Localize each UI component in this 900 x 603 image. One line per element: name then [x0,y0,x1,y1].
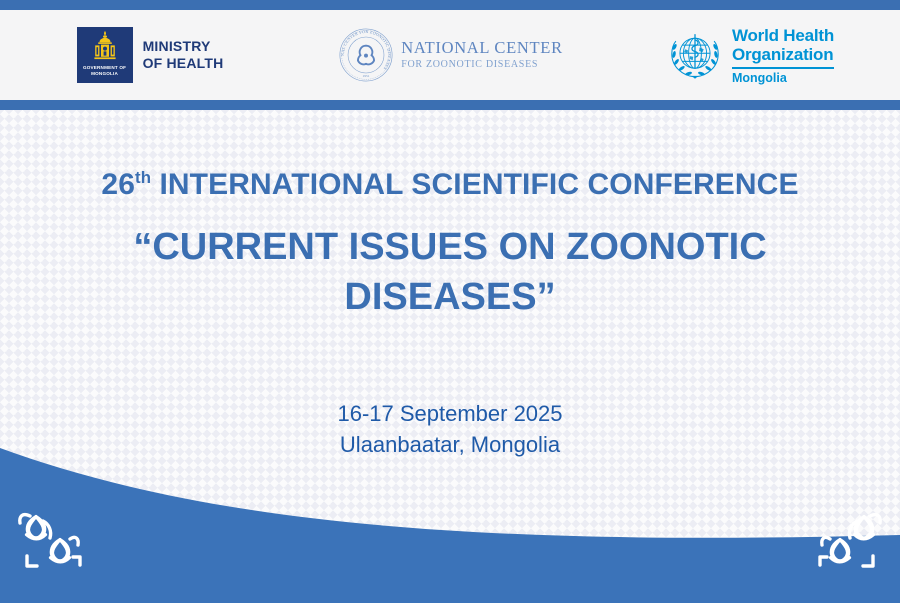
bottom-wave-decoration [0,443,900,603]
national-center-logo-slot: NATIONAL CENTER FOR ZOONOTIC DISEASES 19… [300,26,600,84]
conference-subtitle: 26th INTERNATIONAL SCIENTIFIC CONFERENCE [0,168,900,202]
conference-title-slide: GOVERNMENT OF MONGOLIA MINISTRY OF HEALT… [0,0,900,603]
logo-header: GOVERNMENT OF MONGOLIA MINISTRY OF HEALT… [0,10,900,100]
who-divider [732,67,834,69]
header-divider-bar [0,100,900,110]
who-name-line1: World Health [732,26,834,45]
conference-ordinal: th [135,168,151,187]
ministry-of-health-name: MINISTRY OF HEALTH [143,38,224,72]
zoonotic-seal-icon: NATIONAL CENTER FOR ZOONOTIC DISEASES 19… [337,26,395,84]
who-name-line2: Organization [732,45,834,64]
title-text-block: 26th INTERNATIONAL SCIENTIFIC CONFERENCE… [0,110,900,460]
crest-caption-line2: MONGOLIA [91,71,118,76]
national-center-logo: NATIONAL CENTER FOR ZOONOTIC DISEASES 19… [337,26,563,84]
wave-band-blue [0,448,900,603]
mongolian-knot-ornament-left-icon [16,509,92,575]
ministry-of-health-logo: GOVERNMENT OF MONGOLIA MINISTRY OF HEALT… [77,27,224,83]
national-center-subtitle: FOR ZOONOTIC DISEASES [401,60,563,70]
who-logo-slot: World Health Organization Mongolia [600,26,900,84]
ministry-name-line1: MINISTRY [143,38,224,55]
conference-number: 26 [101,168,135,201]
national-center-title: NATIONAL CENTER [401,40,563,57]
crest-caption-line1: GOVERNMENT OF [83,65,126,70]
ministry-name-line2: OF HEALTH [143,55,224,72]
page-title: “CURRENT ISSUES ON ZOONOTIC DISEASES” [0,222,900,322]
ministry-of-health-logo-slot: GOVERNMENT OF MONGOLIA MINISTRY OF HEALT… [0,27,300,83]
who-wordmark: World Health Organization Mongolia [732,26,834,84]
top-accent-bar [0,0,900,10]
mongolia-government-crest-icon: GOVERNMENT OF MONGOLIA [77,27,133,83]
national-center-text: NATIONAL CENTER FOR ZOONOTIC DISEASES [401,40,563,70]
who-country-label: Mongolia [732,72,834,85]
conference-meta: 16-17 September 2025 Ulaanbaatar, Mongol… [0,398,900,460]
conference-dates: 16-17 September 2025 [0,398,900,429]
svg-text:1951: 1951 [363,74,370,78]
who-emblem-icon [666,26,724,84]
crest-caption: GOVERNMENT OF MONGOLIA [83,65,126,76]
soyombo-emblem-icon [88,30,122,64]
conference-location: Ulaanbaatar, Mongolia [0,429,900,460]
mongolian-knot-ornament-right-icon [808,509,884,575]
conference-label: INTERNATIONAL SCIENTIFIC CONFERENCE [151,168,799,201]
who-logo: World Health Organization Mongolia [666,26,834,84]
